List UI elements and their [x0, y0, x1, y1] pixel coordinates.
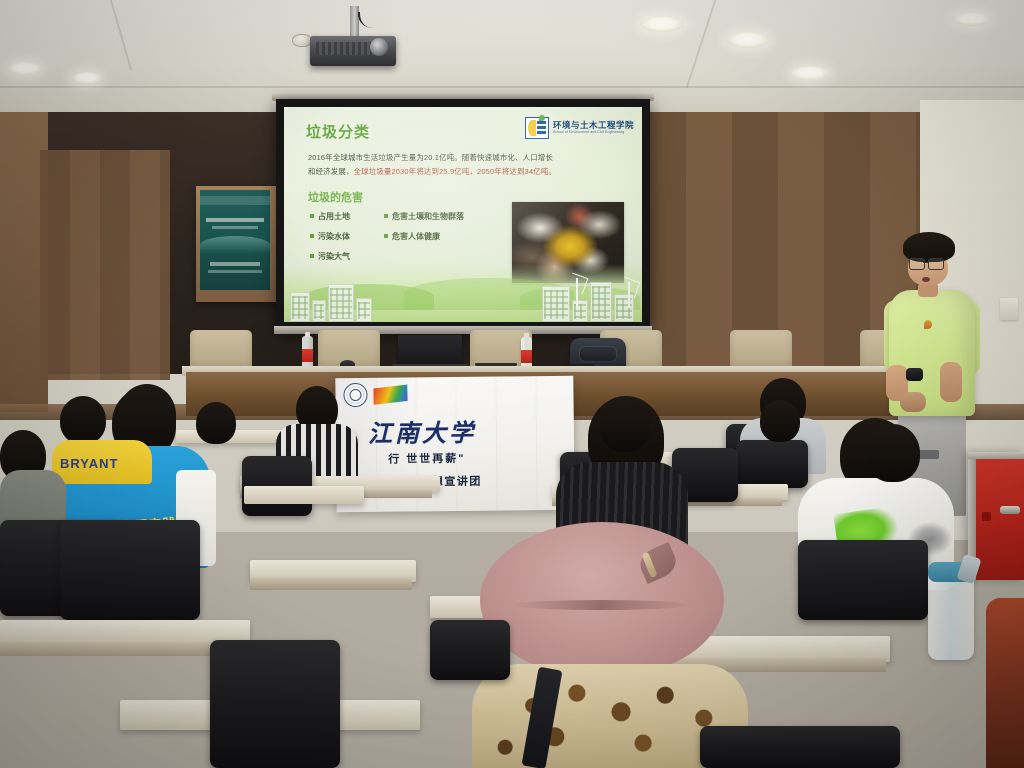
poster-text-line [208, 270, 262, 273]
projector-lens-icon [370, 38, 388, 56]
ceiling-downlight [726, 32, 770, 48]
student-desk-edge [0, 642, 244, 656]
chair-back[interactable] [700, 726, 900, 768]
student-desk-edge [250, 578, 412, 590]
chair-back[interactable] [736, 440, 808, 488]
poster-text-line [212, 226, 258, 229]
ceiling-downlight [72, 72, 102, 84]
attendee-patterned-top [986, 598, 1024, 768]
jersey-text: BRYANT [60, 456, 119, 471]
rainbow-flag-icon [373, 384, 407, 404]
logo-name-en: School of Environment and Civil Engineer… [553, 131, 634, 135]
glasses-lens-right-icon [928, 258, 944, 270]
presenter-mouth [922, 277, 930, 282]
ceiling-downlight [952, 12, 992, 26]
attendee-head [600, 398, 650, 452]
attendee-head [866, 424, 920, 482]
smoke-detector-icon [292, 34, 312, 47]
banner-slogan-line: 行 世世再薪" [388, 450, 465, 467]
college-logo: 环境与土木工程学院 School of Environment and Civi… [525, 117, 634, 139]
attendee-head [60, 396, 106, 444]
case-top-edge [968, 452, 1024, 459]
attendee-head [760, 400, 800, 442]
slide-subtitle: 垃圾的危害 [308, 189, 363, 205]
ceiling-seam [0, 86, 1024, 88]
slide-paragraph-highlight: 全球垃圾量2030年将达到25.9亿吨，2050年将达到34亿吨。 [354, 167, 557, 176]
logo-mark-icon [525, 117, 549, 139]
poster-header-band [200, 196, 270, 205]
slide-bullet: 危害土壤和生物群落 [384, 211, 464, 222]
laptop[interactable] [398, 335, 462, 366]
slide-bullet: 危害人体健康 [384, 231, 440, 242]
slide-bullet: 污染水体 [310, 231, 368, 242]
case-handle[interactable] [1000, 506, 1020, 514]
wristwatch [906, 368, 923, 381]
light-switch[interactable] [1000, 298, 1018, 320]
slide-paragraph: 2016年全球城市生活垃圾产生量为20.1亿吨。随着快速城市化、人口增长 和经济… [308, 151, 608, 178]
chair-back[interactable] [430, 620, 510, 680]
slide-paragraph-line2: 和经济发展， [308, 167, 354, 176]
attendee-head [196, 402, 236, 444]
slide-bullet-list: 占用土地 危害土壤和生物群落 污染水体 危害人体健康 污染大气 [310, 211, 500, 271]
glasses-lens-left-icon [909, 258, 925, 270]
chair-back[interactable] [60, 520, 200, 620]
slide-bullet: 占用土地 [310, 211, 368, 222]
poster-text-line [210, 262, 260, 266]
presentation-slide: 垃圾分类 环境与土木工程学院 School of Environment and… [284, 107, 642, 322]
presenter-arm [940, 362, 962, 402]
case-latch[interactable] [982, 512, 991, 521]
poster-text-line [206, 218, 264, 222]
chair-back[interactable] [210, 640, 340, 768]
hat-band [512, 600, 690, 610]
slide-city-graphic [284, 264, 642, 322]
ceiling-downlight [790, 66, 830, 80]
banner-university-name: 江南大学 [368, 413, 476, 449]
student-desk [244, 486, 364, 504]
slide-bullet: 污染大气 [310, 251, 368, 262]
university-emblem-icon [343, 383, 367, 407]
slide-title: 垃圾分类 [306, 121, 370, 142]
poster-wave-graphic [200, 236, 270, 254]
lecture-hall-photo: 垃圾分类 环境与土木工程学院 School of Environment and… [0, 0, 1024, 768]
glasses-bridge-icon [923, 262, 928, 263]
slide-paragraph-line1: 2016年全球城市生活垃圾产生量为20.1亿吨。随着快速城市化、人口增长 [308, 153, 553, 162]
chair-back[interactable] [798, 540, 928, 620]
ceiling-downlight [8, 62, 42, 75]
presenter-hands [900, 392, 926, 412]
ceiling-downlight [640, 16, 684, 32]
presenter-shirt-logo [924, 320, 932, 329]
water-bottle[interactable] [302, 336, 313, 370]
wood-panel-left [40, 150, 170, 380]
